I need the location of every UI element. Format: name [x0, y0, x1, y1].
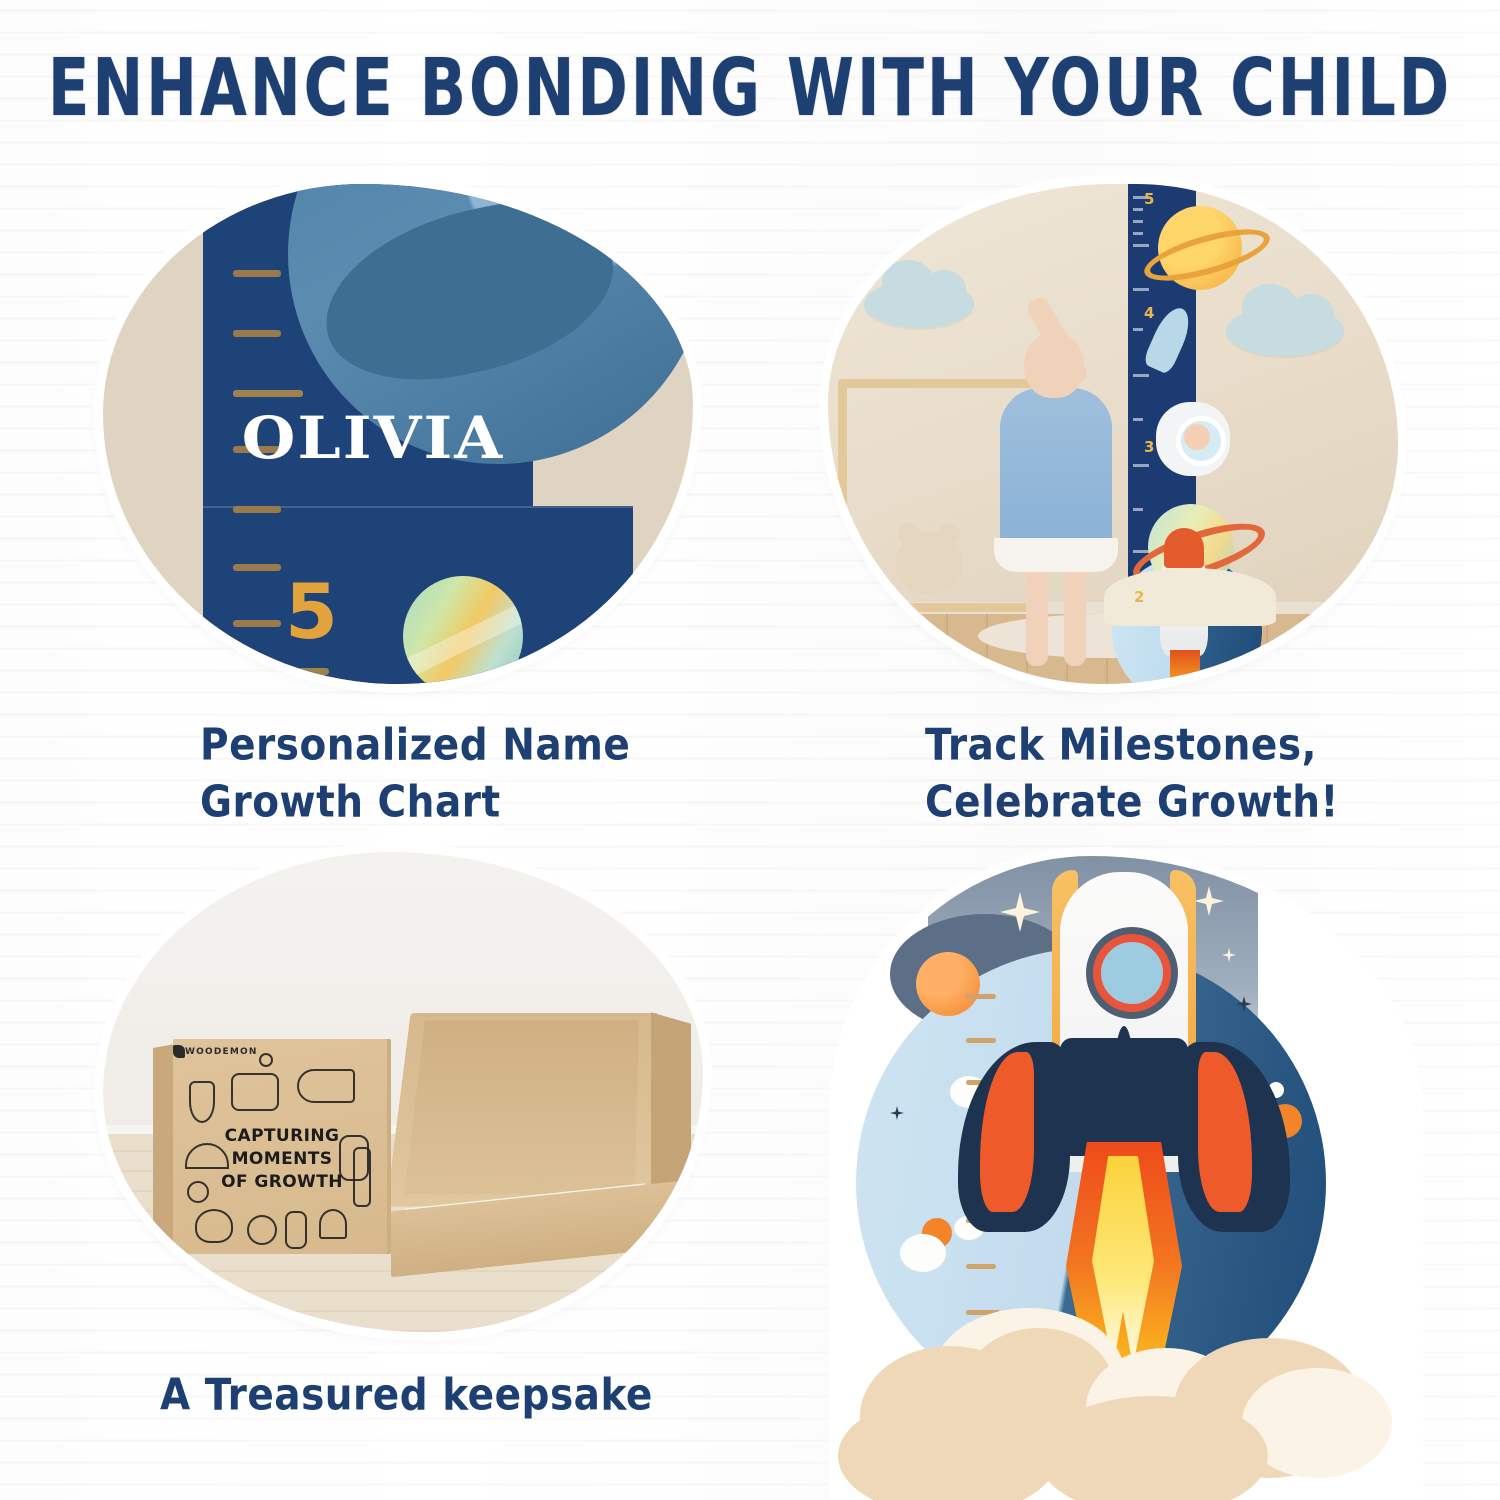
doodle-cat-icon	[247, 1215, 277, 1245]
box-slogan-line: MOMENTS	[173, 1148, 391, 1171]
brand-name: WOODEMON	[185, 1047, 258, 1057]
doodle-cactus-icon	[189, 1081, 215, 1123]
caption-line: Personalized Name	[200, 718, 720, 775]
closed-box-front: WOODEMON CAPTURING MOMENTS OF GROWTH	[173, 1039, 391, 1254]
cloud-wall-decor	[864, 280, 974, 328]
ruler-tick-major	[233, 390, 303, 397]
rocket-nose-cone	[1164, 528, 1204, 568]
doodle-lion-icon	[231, 1073, 279, 1111]
doodle-dot-icon	[259, 1053, 273, 1067]
cloud-wall-decor	[1226, 306, 1344, 356]
caption-line: Track Milestones,	[925, 718, 1445, 775]
doodle-palm-icon	[285, 1211, 307, 1249]
teddy-bear	[896, 532, 962, 594]
box-slogan-line: CAPTURING	[173, 1125, 391, 1148]
rocket-flame	[1170, 650, 1200, 684]
ruler-tick	[233, 564, 281, 571]
astronaut-face	[1184, 424, 1210, 450]
caption-line: Celebrate Growth!	[925, 775, 1445, 832]
ruler-tick	[233, 330, 281, 337]
girl-dress	[1000, 388, 1112, 556]
panel-personalized-name: 5 OLIVIA	[103, 184, 693, 684]
ruler-tick	[233, 506, 281, 513]
ruler-tick	[233, 270, 281, 277]
child-name-label: OLIVIA	[203, 404, 542, 472]
panel-packaging-box: WOODEMON CAPTURING MOMENTS OF GROWTH	[103, 852, 703, 1332]
red-dot-planet	[563, 636, 580, 653]
ruler-number-5: 5	[285, 574, 338, 650]
ruler-tick-major	[233, 668, 329, 675]
doodle-dinosaur-icon	[297, 1069, 355, 1103]
caption-track-milestones: Track Milestones, Celebrate Growth!	[925, 718, 1445, 832]
panel-rocket-closeup: 2	[838, 856, 1414, 1500]
doodle-mushroom-icon	[319, 1209, 347, 1239]
rocket-window	[1093, 934, 1171, 1012]
closed-box-side	[153, 1044, 175, 1248]
girl-leg	[1064, 558, 1086, 666]
box-slogan-line: OF GROWTH	[173, 1171, 391, 1194]
girl-leg	[1026, 558, 1048, 666]
open-box-lid-inner	[404, 1020, 639, 1194]
ruler-number: 2	[1134, 588, 1144, 606]
small-planet-illustration	[403, 576, 523, 684]
box-slogan: CAPTURING MOMENTS OF GROWTH	[173, 1125, 391, 1193]
caption-line: Growth Chart	[200, 775, 720, 832]
panel-lifestyle-room: 5 4 3 2	[828, 184, 1398, 684]
caption-personalized-name: Personalized Name Growth Chart	[200, 718, 720, 832]
caption-treasured-keepsake: A Treasured keepsake	[160, 1368, 720, 1425]
ruler-number: 5	[1144, 190, 1154, 208]
doodle-bird-icon	[195, 1209, 233, 1243]
brand-mark-icon	[173, 1045, 185, 1058]
brand-logo-text: WOODEMON	[185, 1047, 258, 1057]
white-cloud-dot	[900, 1234, 946, 1272]
page-headline: ENHANCE BONDING WITH YOUR CHILD	[15, 46, 1485, 129]
dress-frill	[994, 538, 1118, 572]
launch-cloud	[1104, 568, 1276, 626]
ruler-number: 4	[1144, 304, 1154, 322]
ruler-number: 3	[1144, 438, 1154, 456]
ruler-tick	[233, 620, 281, 627]
